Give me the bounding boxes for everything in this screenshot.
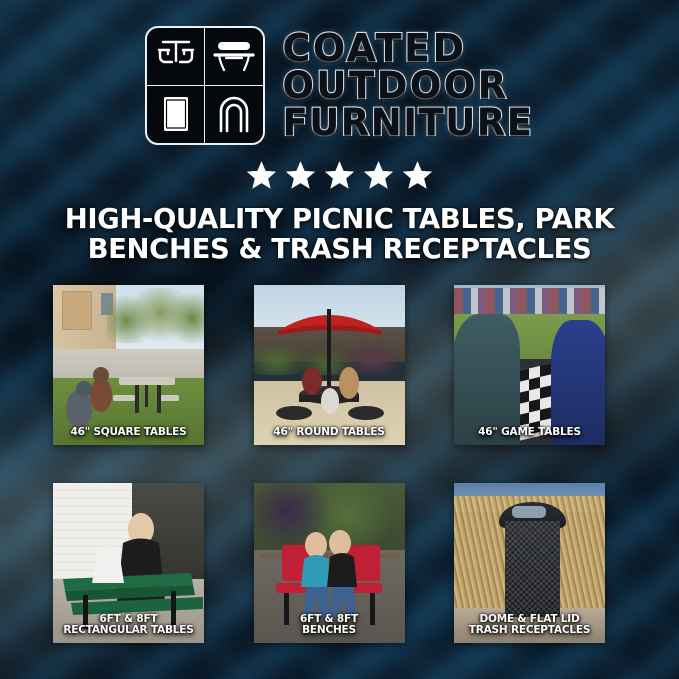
star-icon [362, 159, 395, 191]
star-icon [284, 159, 317, 191]
caption-line: 46" ROUND TABLES [256, 427, 403, 439]
product-tile-benches[interactable]: 6FT & 8FT BENCHES [254, 483, 405, 643]
product-tile-game-tables[interactable]: 46" GAME TABLES [454, 285, 605, 445]
page-title: HIGH-QUALITY PICNIC TABLES, PARK BENCHES… [0, 205, 679, 264]
caption-line: 46" GAME TABLES [456, 427, 603, 439]
product-photo [454, 285, 605, 445]
product-tile-round-tables[interactable]: 46" ROUND TABLES [254, 285, 405, 445]
product-caption: 46" GAME TABLES [454, 427, 605, 439]
wordmark-line-outdoor: OUTDOOR [282, 69, 508, 103]
logo-icon-grid [145, 26, 265, 145]
product-caption: DOME & FLAT LID TRASH RECEPTACLES [454, 614, 605, 638]
product-tile-rectangular-tables[interactable]: 6FT & 8FT RECTANGULAR TABLES [53, 483, 204, 643]
star-icon [323, 159, 356, 191]
star-rating [0, 159, 679, 191]
product-photo [254, 285, 405, 445]
product-caption: 6FT & 8FT BENCHES [254, 614, 405, 638]
product-caption: 46" SQUARE TABLES [53, 427, 204, 439]
wordmark-line-coated: COATED [282, 31, 466, 66]
product-category-grid: 46" SQUARE TABLES [53, 285, 605, 643]
product-tile-trash-receptacles[interactable]: DOME & FLAT LID TRASH RECEPTACLES [454, 483, 605, 643]
wordmark-line-furniture: FURNITURE [282, 106, 533, 140]
header: COATED OUTDOOR FURNITURE HIGH-QUALITY PI… [0, 0, 679, 264]
park-bench-icon [205, 28, 263, 86]
promo-banner: COATED OUTDOOR FURNITURE HIGH-QUALITY PI… [0, 0, 679, 679]
caption-line: TRASH RECEPTACLES [456, 625, 603, 637]
headline-line-1: HIGH-QUALITY PICNIC TABLES, PARK [30, 205, 649, 235]
product-caption: 6FT & 8FT RECTANGULAR TABLES [53, 614, 204, 638]
star-icon [245, 159, 278, 191]
bike-rack-arch-icon [205, 86, 263, 144]
brand-logo: COATED OUTDOOR FURNITURE [0, 0, 679, 145]
product-tile-square-tables[interactable]: 46" SQUARE TABLES [53, 285, 204, 445]
caption-line: 46" SQUARE TABLES [55, 427, 202, 439]
caption-line: BENCHES [256, 625, 403, 637]
product-photo [53, 285, 204, 445]
picnic-table-icon [147, 28, 205, 86]
caption-line: RECTANGULAR TABLES [55, 625, 202, 637]
trash-receptacle-icon [147, 86, 205, 144]
headline-line-2: BENCHES & TRASH RECEPTACLES [30, 235, 649, 265]
brand-wordmark: COATED OUTDOOR FURNITURE [282, 31, 533, 140]
star-icon [401, 159, 434, 191]
product-caption: 46" ROUND TABLES [254, 427, 405, 439]
